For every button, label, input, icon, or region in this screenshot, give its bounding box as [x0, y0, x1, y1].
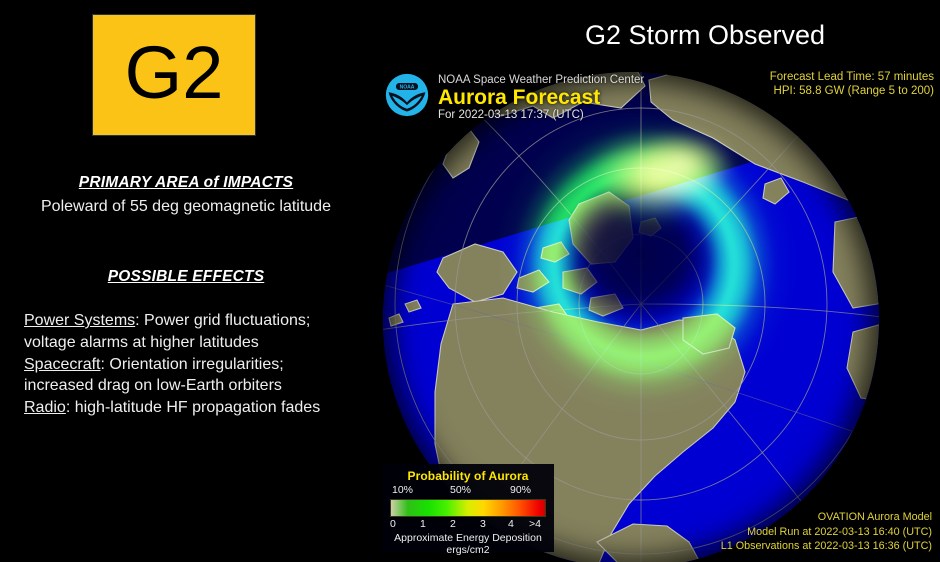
model-name: OVATION Aurora Model — [721, 510, 932, 525]
page-title: G2 Storm Observed — [470, 20, 940, 51]
effects-list: Power Systems: Power grid fluctuations; … — [24, 310, 354, 419]
legend-pct-50: 50% — [450, 484, 471, 496]
noaa-logo-text: NOAA — [400, 85, 415, 91]
legend-pct-10: 10% — [392, 484, 413, 496]
storm-level-label: G2 — [125, 36, 224, 110]
legend-caption-line2: ergs/cm2 — [382, 544, 554, 556]
legend-tick-4: 4 — [508, 518, 514, 530]
impacts-panel: G2 PRIMARY AREA of IMPACTS Poleward of 5… — [0, 0, 372, 562]
noaa-header: NOAA NOAA Space Weather Prediction Cente… — [378, 64, 678, 122]
effect-item-spacecraft: Spacecraft: Orientation irregularities; … — [24, 354, 354, 398]
forecast-product-title: Aurora Forecast — [438, 86, 600, 110]
model-credits-block: OVATION Aurora Model Model Run at 2022-0… — [721, 510, 932, 554]
primary-impacts-text: Poleward of 55 deg geomagnetic latitude — [0, 198, 372, 216]
model-run-time: Model Run at 2022-03-13 16:40 (UTC) — [721, 525, 932, 540]
legend-tick-3: 3 — [480, 518, 486, 530]
legend-tick-1: 1 — [420, 518, 426, 530]
effect-text-radio: : high-latitude HF propagation fades — [66, 399, 320, 416]
forecast-lead-time: Forecast Lead Time: 57 minutes — [770, 70, 934, 84]
legend-colorbar — [390, 499, 546, 517]
forecast-valid-time: For 2022-03-13 17:37 (UTC) — [438, 109, 584, 121]
storm-level-badge: G2 — [92, 14, 256, 136]
legend-tick-0: 0 — [390, 518, 396, 530]
legend-tick-2: 2 — [450, 518, 456, 530]
legend-caption-line1: Approximate Energy Deposition — [382, 532, 554, 544]
effect-label-radio: Radio — [24, 399, 66, 416]
effect-item-radio: Radio: high-latitude HF propagation fade… — [24, 397, 354, 419]
hemispheric-power-index: HPI: 58.8 GW (Range 5 to 200) — [770, 84, 934, 98]
aurora-peak-core — [633, 132, 733, 196]
legend-probability-ticks: 10% 50% 90% — [382, 484, 554, 498]
effect-item-power-systems: Power Systems: Power grid fluctuations; … — [24, 310, 354, 354]
l1-observations-time: L1 Observations at 2022-03-13 16:36 (UTC… — [721, 539, 932, 554]
aurora-forecast-image: NOAA NOAA Space Weather Prediction Cente… — [372, 58, 940, 562]
forecast-metrics-block: Forecast Lead Time: 57 minutes HPI: 58.8… — [770, 70, 934, 99]
noaa-logo-icon: NOAA — [384, 72, 430, 118]
effect-label-power-systems: Power Systems — [24, 312, 135, 329]
legend-energy-ticks: 0 1 2 3 4 >4 — [382, 518, 554, 532]
primary-impacts-heading: PRIMARY AREA of IMPACTS — [0, 174, 372, 192]
legend-pct-90: 90% — [510, 484, 531, 496]
legend-tick-gt4: >4 — [529, 518, 541, 530]
effect-label-spacecraft: Spacecraft — [24, 356, 100, 373]
slide-canvas: G2 PRIMARY AREA of IMPACTS Poleward of 5… — [0, 0, 940, 562]
noaa-agency-line: NOAA Space Weather Prediction Center — [438, 74, 644, 86]
legend-caption: Approximate Energy Deposition ergs/cm2 — [382, 532, 554, 556]
legend-title: Probability of Aurora — [382, 464, 554, 483]
possible-effects-heading: POSSIBLE EFFECTS — [0, 268, 372, 286]
aurora-probability-legend: Probability of Aurora 10% 50% 90% 0 1 2 … — [382, 464, 554, 552]
